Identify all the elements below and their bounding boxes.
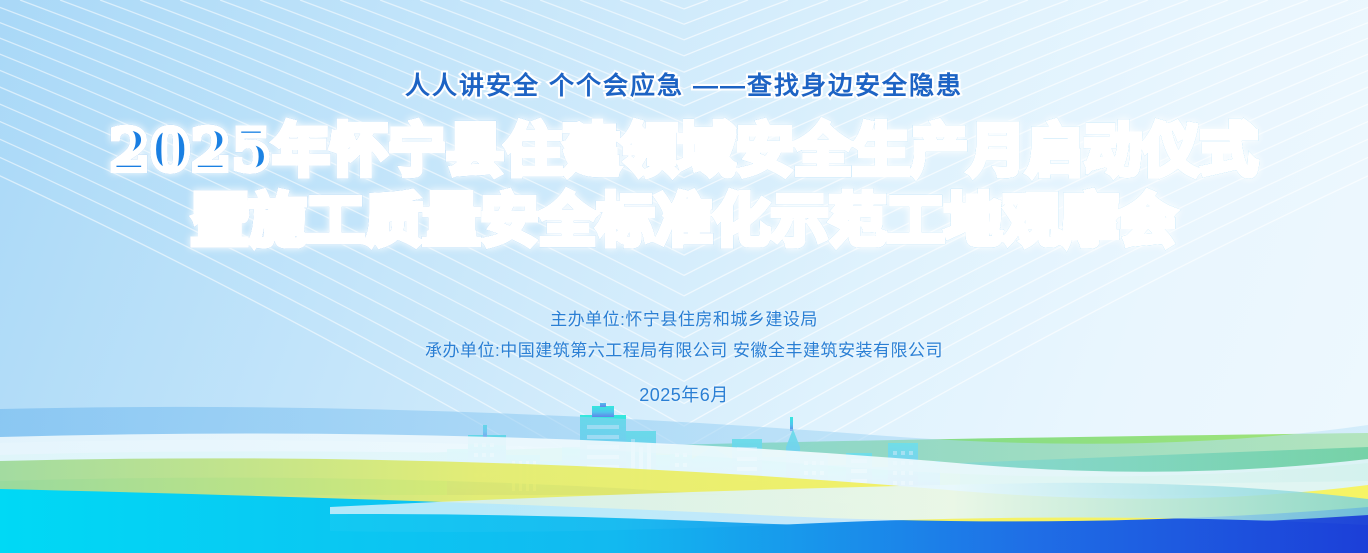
scenery-illustration (0, 403, 1368, 553)
event-banner: 人人讲安全 个个会应急 ——查找身边安全隐患 2025年怀宁县住建领域安全生产月… (0, 0, 1368, 553)
banner-slogan: 人人讲安全 个个会应急 ——查找身边安全隐患 (0, 66, 1368, 102)
banner-title-line-1: 2025年怀宁县住建领域安全生产月启动仪式 (0, 116, 1368, 186)
banner-text-block: 人人讲安全 个个会应急 ——查找身边安全隐患 2025年怀宁县住建领域安全生产月… (0, 0, 1368, 407)
host-unit-label: 主办单位:怀宁县住房和城乡建设局 (0, 304, 1368, 335)
event-date: 2025年6月 (0, 381, 1368, 407)
banner-organizers: 主办单位:怀宁县住房和城乡建设局 承办单位:中国建筑第六工程局有限公司 安徽全丰… (0, 304, 1368, 366)
banner-title: 2025年怀宁县住建领域安全生产月启动仪式 暨施工质量安全标准化示范工地观摩会 (0, 116, 1368, 256)
organizer-unit-label: 承办单位:中国建筑第六工程局有限公司 安徽全丰建筑安装有限公司 (0, 335, 1368, 366)
banner-title-line-2: 暨施工质量安全标准化示范工地观摩会 (0, 186, 1368, 256)
